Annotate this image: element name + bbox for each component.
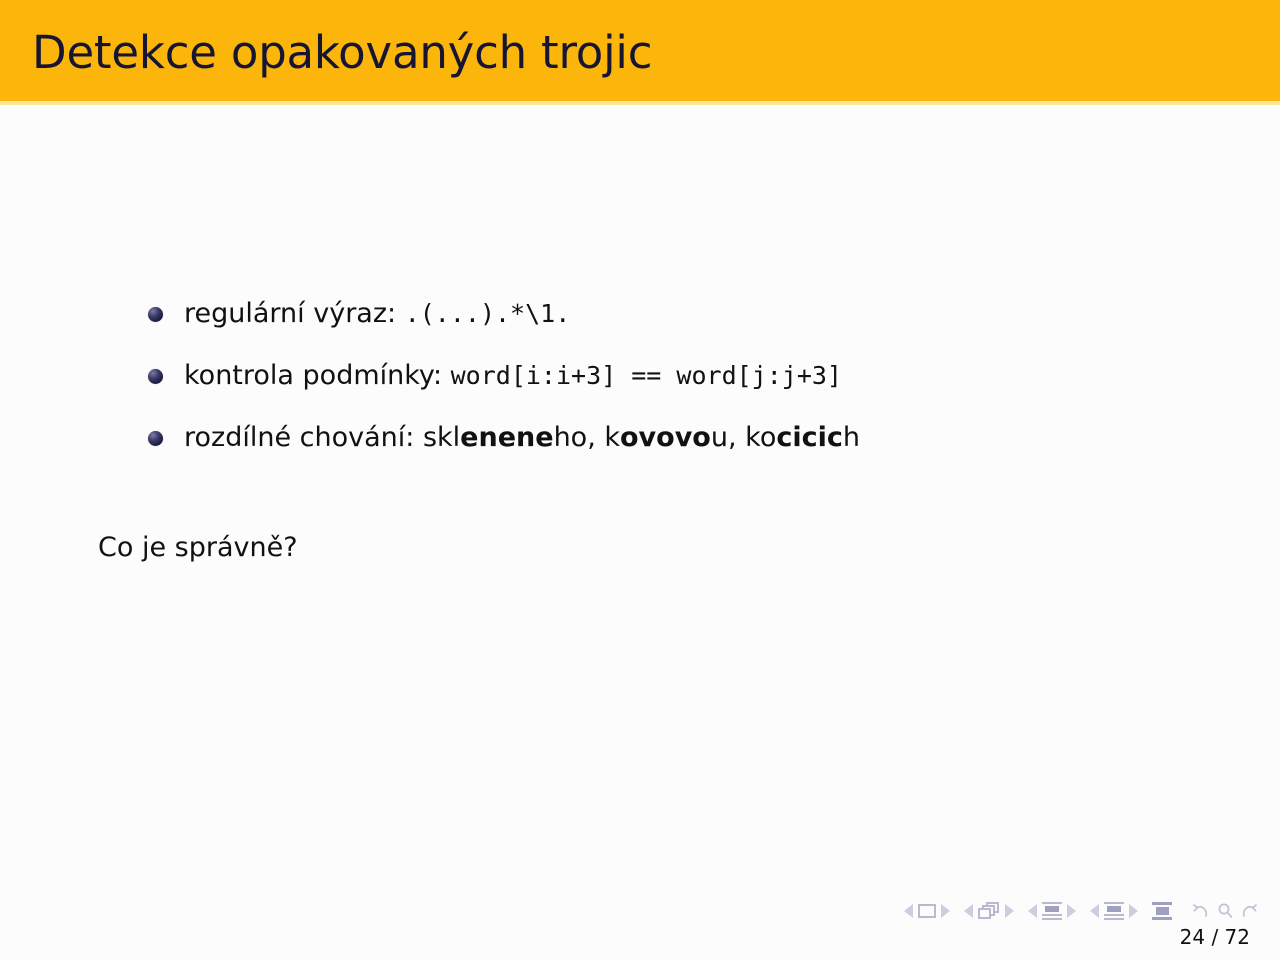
bullet-code-right: word[j:j+3]: [676, 361, 842, 390]
slide-content: regulární výraz: .(...).*\1. kontrola po…: [0, 105, 1280, 960]
previous-subsection-icon[interactable]: [1028, 904, 1037, 918]
example-1-suffix: ho,: [554, 422, 605, 453]
bullet-list: regulární výraz: .(...).*\1. kontrola po…: [140, 295, 1220, 481]
slide-icon[interactable]: [918, 904, 936, 918]
nav-group-section[interactable]: [1090, 902, 1138, 920]
next-section-icon[interactable]: [1129, 904, 1138, 918]
nav-group-presentation[interactable]: [1152, 902, 1172, 920]
bullet-ball-icon: [148, 307, 163, 322]
example-2-suffix: u,: [711, 422, 745, 453]
next-frame-icon[interactable]: [1005, 904, 1014, 918]
example-2-highlight: ovovo: [620, 422, 711, 453]
bullet-code-left: word[i:i+3]: [451, 361, 617, 390]
beamer-navigation-bar[interactable]: [820, 896, 1260, 926]
previous-section-icon[interactable]: [1090, 904, 1099, 918]
next-subsection-icon[interactable]: [1067, 904, 1076, 918]
list-item: rozdílné chování: skleneneho, kovovou, k…: [140, 419, 1220, 459]
bullet-label: kontrola podmínky:: [184, 360, 451, 391]
next-slide-icon[interactable]: [941, 904, 950, 918]
previous-frame-icon[interactable]: [964, 904, 973, 918]
example-1-prefix: skl: [423, 422, 460, 453]
example-1-highlight: enene: [460, 422, 553, 453]
example-3-highlight: cicic: [776, 422, 843, 453]
bullet-code-operator: ==: [616, 361, 676, 390]
nav-group-slide[interactable]: [904, 904, 950, 918]
bullet-ball-icon: [148, 369, 163, 384]
page-title: Detekce opakovaných trojic: [32, 28, 652, 78]
undo-arrow-icon[interactable]: [1190, 901, 1212, 921]
section-bars-icon[interactable]: [1104, 902, 1124, 920]
bullet-label: rozdílné chování:: [184, 422, 423, 453]
page-number: 24 / 72: [1180, 925, 1250, 949]
nav-group-history[interactable]: [1190, 901, 1260, 921]
example-3-suffix: h: [843, 422, 860, 453]
example-3-prefix: ko: [745, 422, 776, 453]
nav-group-frame[interactable]: [964, 902, 1014, 920]
list-item: kontrola podmínky: word[i:i+3] == word[j…: [140, 357, 1220, 397]
redo-arrow-icon[interactable]: [1238, 901, 1260, 921]
frames-icon[interactable]: [978, 902, 1000, 920]
question-text: Co je správně?: [98, 530, 298, 566]
magnifier-icon[interactable]: [1215, 901, 1235, 921]
list-item: regulární výraz: .(...).*\1.: [140, 295, 1220, 335]
bullet-code: .(...).*\1.: [405, 299, 571, 328]
example-2-prefix: k: [604, 422, 620, 453]
subsection-bars-icon[interactable]: [1042, 902, 1062, 920]
bullet-ball-icon: [148, 431, 163, 446]
presentation-doc-icon[interactable]: [1152, 902, 1172, 920]
nav-group-subsection[interactable]: [1028, 902, 1076, 920]
previous-slide-icon[interactable]: [904, 904, 913, 918]
bullet-label: regulární výraz:: [184, 298, 405, 329]
